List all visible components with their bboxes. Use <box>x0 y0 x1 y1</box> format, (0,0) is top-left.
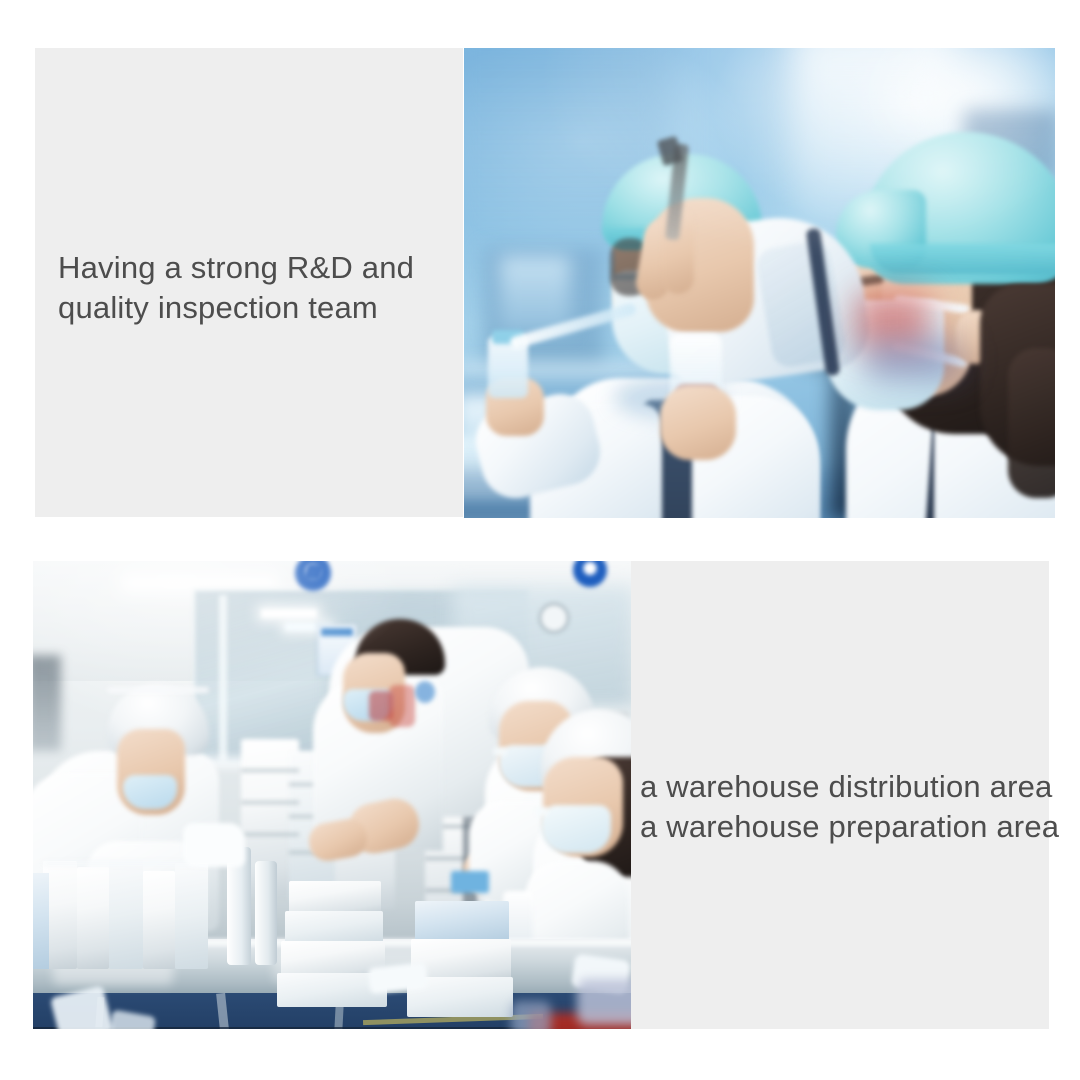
caption-line-1: a warehouse distribution area <box>640 767 1059 807</box>
warehouse-packing-area-photo <box>33 561 632 1029</box>
rd-quality-inspection-lab-photo <box>464 48 1055 518</box>
page-root: Having a strong R&D and quality inspecti… <box>0 0 1080 1080</box>
caption-panel-bottom-right: a warehouse distribution area a warehous… <box>631 561 1049 1029</box>
caption-line-1: Having a strong R&D and <box>58 248 414 288</box>
caption-warehouse: a warehouse distribution area a warehous… <box>640 767 1059 846</box>
caption-line-2: a warehouse preparation area <box>640 807 1059 847</box>
row-warehouse: a warehouse distribution area a warehous… <box>0 540 1080 1080</box>
row-rd-quality: Having a strong R&D and quality inspecti… <box>0 0 1080 540</box>
caption-panel-top-left: Having a strong R&D and quality inspecti… <box>35 48 463 517</box>
caption-line-2: quality inspection team <box>58 288 414 328</box>
caption-rd-quality: Having a strong R&D and quality inspecti… <box>35 248 414 327</box>
